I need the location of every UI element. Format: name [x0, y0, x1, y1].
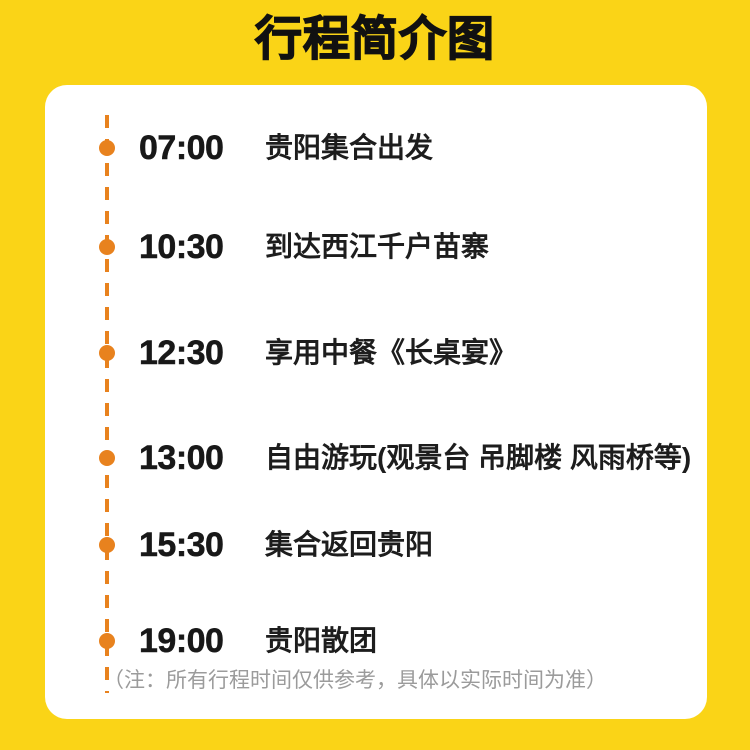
timeline-item-time: 19:00	[139, 622, 223, 660]
timeline-item-time: 15:30	[139, 526, 223, 564]
timeline-dot-icon	[99, 537, 115, 553]
timeline-item-time: 07:00	[139, 129, 223, 167]
timeline-dashed-rail	[105, 115, 109, 693]
timeline-dot-icon	[99, 239, 115, 255]
timeline-row: 10:30 到达西江千户苗寨	[45, 224, 707, 270]
timeline-dot-icon	[99, 345, 115, 361]
timeline-item-description: 到达西江千户苗寨	[265, 230, 489, 264]
timeline-row: 12:30 享用中餐《长桌宴》	[45, 330, 707, 376]
timeline-row: 19:00 贵阳散团	[45, 618, 707, 664]
timeline-dot-icon	[99, 633, 115, 649]
timeline-row: 15:30 集合返回贵阳	[45, 522, 707, 568]
timeline-item-description: 集合返回贵阳	[265, 528, 433, 562]
page-title: 行程简介图	[0, 8, 750, 70]
schedule-card: 07:00 贵阳集合出发 10:30 到达西江千户苗寨 12:30 享用中餐《长…	[45, 85, 707, 719]
timeline-item-description: 贵阳集合出发	[265, 131, 433, 165]
timeline-row: 13:00 自由游玩(观景台 吊脚楼 风雨桥等)	[45, 435, 707, 481]
timeline-item-description: 自由游玩(观景台 吊脚楼 风雨桥等)	[265, 441, 691, 475]
timeline-item-description: 贵阳散团	[265, 624, 377, 658]
itinerary-poster: 行程简介图 07:00 贵阳集合出发 10:30 到达西江千户苗寨 12:30 …	[0, 0, 750, 750]
timeline-dot-icon	[99, 140, 115, 156]
timeline-row: 07:00 贵阳集合出发	[45, 125, 707, 171]
timeline-dot-icon	[99, 450, 115, 466]
timeline-item-time: 12:30	[139, 334, 223, 372]
timeline-item-time: 13:00	[139, 439, 223, 477]
schedule-footnote: （注：所有行程时间仅供参考，具体以实际时间为准）	[103, 667, 703, 695]
timeline-item-time: 10:30	[139, 228, 223, 266]
timeline-item-description: 享用中餐《长桌宴》	[265, 336, 517, 370]
